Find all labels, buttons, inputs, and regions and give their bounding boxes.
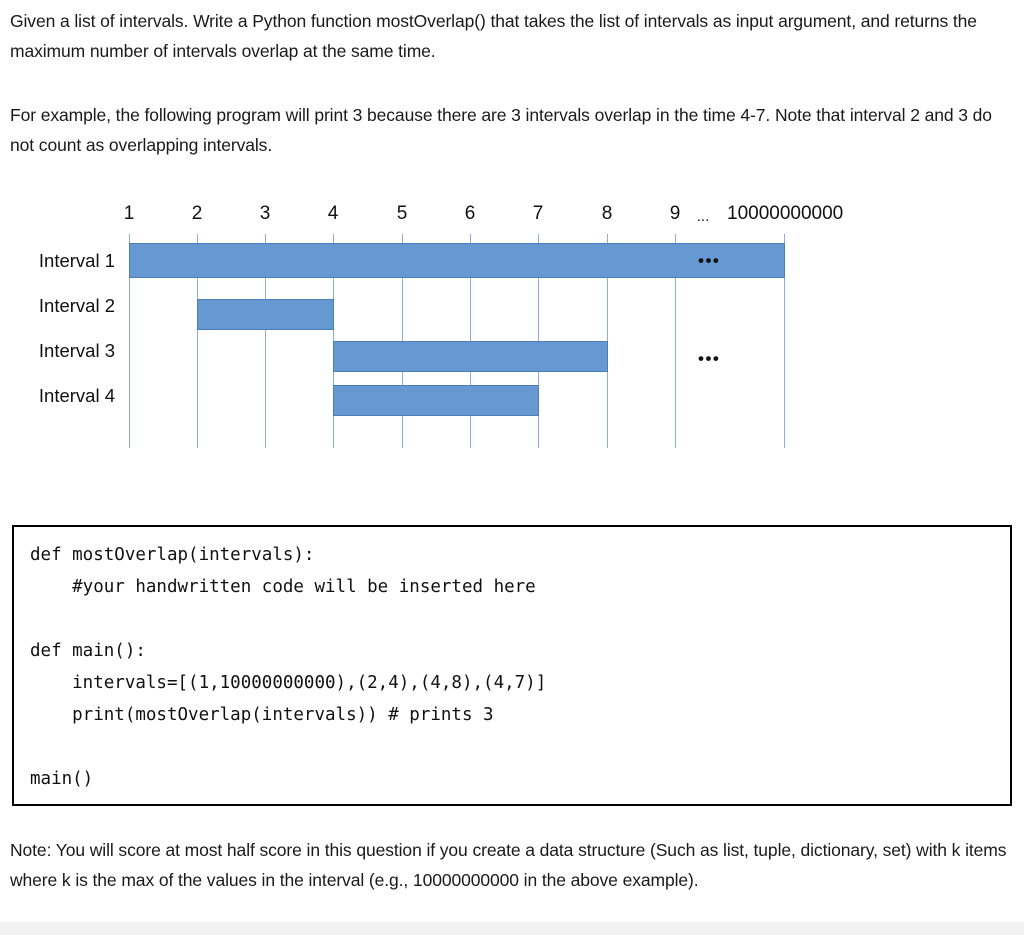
row-label-interval-4: Interval 4 [5, 387, 115, 406]
x-tick-label-8: 8 [602, 204, 613, 223]
row-label-interval-1: Interval 1 [5, 252, 115, 271]
x-tick-label-4: 4 [328, 204, 339, 223]
row-label-interval-2: Interval 2 [5, 297, 115, 316]
row-gap-dots-interval-3: ••• [698, 354, 720, 364]
x-tick-label-2: 2 [192, 204, 203, 223]
x-tick-label-3: 3 [260, 204, 271, 223]
row-label-interval-3: Interval 3 [5, 342, 115, 361]
x-tick-label-6: 6 [465, 204, 476, 223]
x-tick-label-ellipsis: ... [697, 207, 710, 226]
bar-interval-3 [333, 341, 608, 372]
bar-truncation-dots-interval-1: ••• [698, 256, 720, 266]
code-block: def mostOverlap(intervals): #your handwr… [12, 525, 1012, 806]
x-tick-label-max: 10000000000 [727, 204, 843, 223]
problem-statement-paragraph: Given a list of intervals. Write a Pytho… [10, 6, 1010, 66]
bar-interval-2 [197, 299, 334, 330]
example-description-paragraph: For example, the following program will … [10, 100, 1010, 160]
x-tick-label-9: 9 [670, 204, 681, 223]
bar-interval-4 [333, 385, 539, 416]
bottom-strip [0, 922, 1024, 935]
code-text: def mostOverlap(intervals): #your handwr… [30, 539, 546, 795]
interval-overlap-chart: 1 2 3 4 5 6 7 8 9 ... 10000000000 Interv… [0, 190, 1024, 460]
x-tick-label-5: 5 [397, 204, 408, 223]
x-tick-label-7: 7 [533, 204, 544, 223]
scoring-note-paragraph: Note: You will score at most half score … [10, 835, 1015, 895]
bar-interval-1 [129, 243, 785, 278]
x-tick-label-1: 1 [124, 204, 135, 223]
